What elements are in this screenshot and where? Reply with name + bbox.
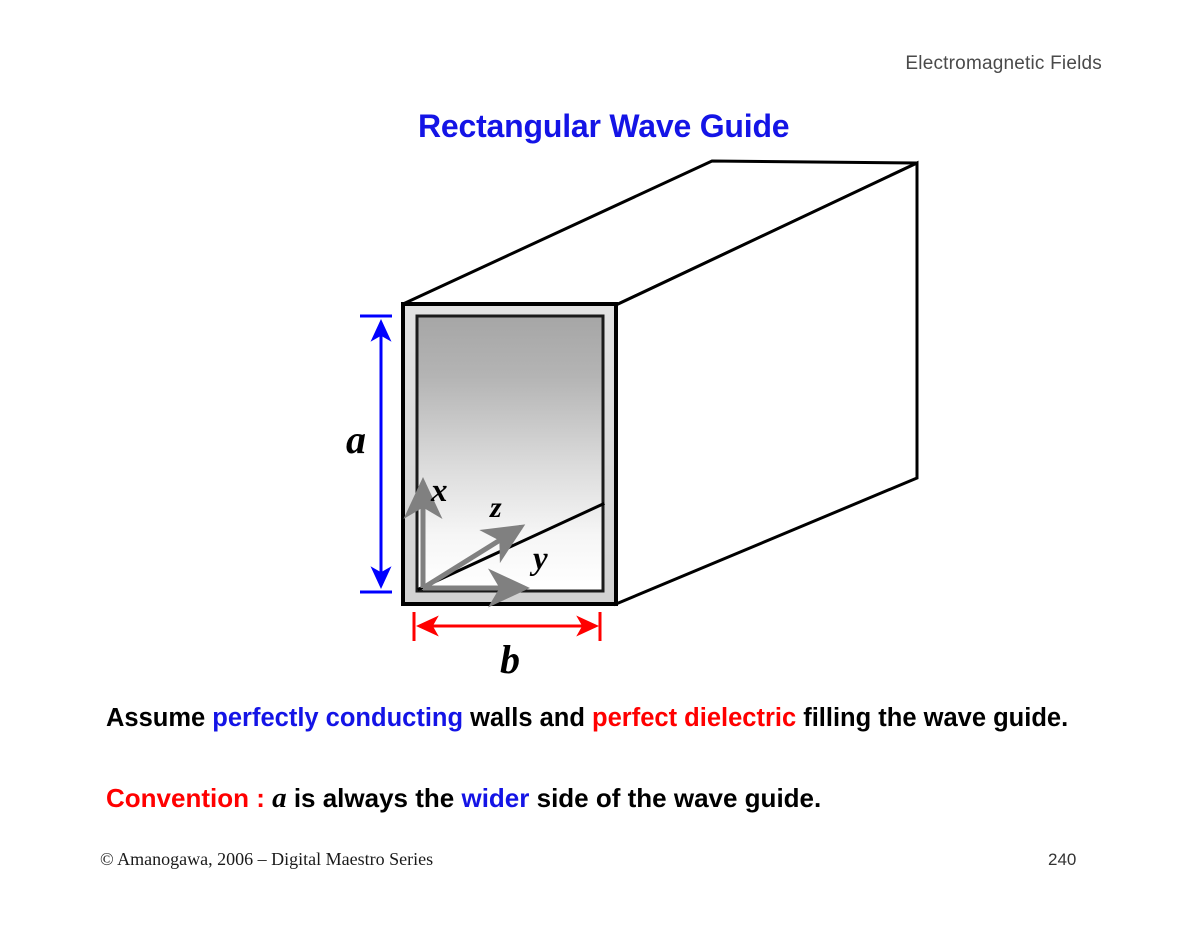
dim-a-label: a xyxy=(346,416,366,463)
axis-x-label: x xyxy=(431,473,448,510)
assume-seg-2: walls and xyxy=(463,704,592,732)
convention-seg-1-math-a: a xyxy=(272,782,287,814)
paragraph-assume: Assume perfectly conducting walls and pe… xyxy=(106,703,1106,734)
assume-seg-0: Assume xyxy=(106,704,212,732)
convention-seg-2: is always the xyxy=(287,783,462,813)
axis-y-label: y xyxy=(533,541,548,578)
footer-page-number: 240 xyxy=(1048,850,1076,870)
dim-b-label: b xyxy=(500,636,520,683)
slide-canvas: Electromagnetic Fields Rectangular Wave … xyxy=(0,0,1200,927)
assume-seg-3: perfect dielectric xyxy=(592,704,796,732)
assume-seg-4: filling the wave guide. xyxy=(796,704,1068,732)
waveguide-cavity-opening xyxy=(417,316,603,591)
waveguide-svg xyxy=(0,0,1200,700)
assume-seg-1: perfectly conducting xyxy=(212,704,463,732)
waveguide-figure: a b x y z xyxy=(0,0,1200,700)
convention-seg-0: Convention : xyxy=(106,783,272,813)
convention-seg-3: wider xyxy=(461,783,529,813)
convention-seg-4: side of the wave guide. xyxy=(529,783,821,813)
axis-z-label: z xyxy=(490,491,502,525)
footer-copyright: © Amanogawa, 2006 – Digital Maestro Seri… xyxy=(100,849,433,870)
paragraph-convention: Convention : a is always the wider side … xyxy=(106,782,1106,814)
